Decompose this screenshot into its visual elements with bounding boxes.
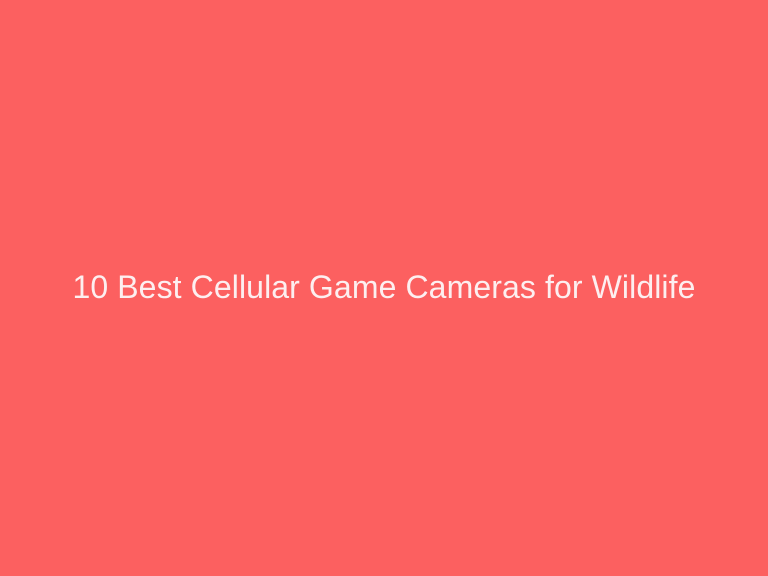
placeholder-image-canvas: 10 Best Cellular Game Cameras for Wildli… xyxy=(0,0,768,576)
placeholder-caption-title: 10 Best Cellular Game Cameras for Wildli… xyxy=(48,269,719,307)
